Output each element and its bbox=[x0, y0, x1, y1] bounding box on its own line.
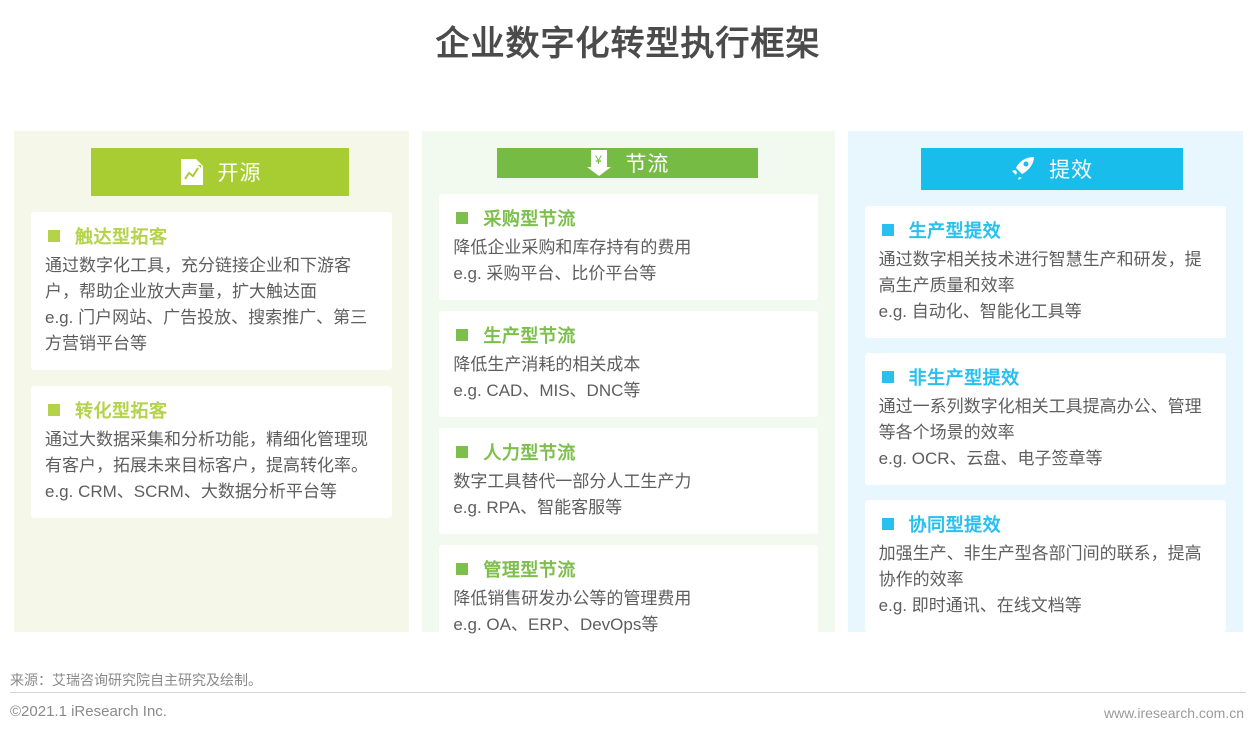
card-list: 触达型拓客 通过数字化工具，充分链接企业和下游客户，帮助企业放大声量，扩大触达面… bbox=[31, 212, 392, 518]
card-title: 生产型节流 bbox=[483, 322, 576, 348]
card-body: 通过一系列数字化相关工具提高办公、管理等各个场景的效率e.g. OCR、云盘、电… bbox=[879, 394, 1212, 472]
square-bullet-icon bbox=[456, 212, 468, 224]
square-bullet-icon bbox=[456, 446, 468, 458]
card-title: 采购型节流 bbox=[483, 205, 576, 231]
card-list: 采购型节流 降低企业采购和库存持有的费用e.g. 采购平台、比价平台等 生产型节… bbox=[439, 194, 817, 651]
card-body: 通过大数据采集和分析功能，精细化管理现有客户，拓展未来目标客户，提高转化率。e.… bbox=[45, 427, 378, 505]
card-body: 降低销售研发办公等的管理费用e.g. OA、ERP、DevOps等 bbox=[453, 586, 803, 638]
card-body: 数字工具替代一部分人工生产力e.g. RPA、智能客服等 bbox=[453, 469, 803, 521]
card-title: 转化型拓客 bbox=[75, 397, 168, 423]
column-header-label: 节流 bbox=[625, 148, 669, 178]
card-title-row: 采购型节流 bbox=[453, 205, 803, 231]
framework-columns: 开源 触达型拓客 通过数字化工具，充分链接企业和下游客户，帮助企业放大声量，扩大… bbox=[14, 131, 1243, 632]
footer-source: 来源：艾瑞咨询研究院自主研究及绘制。 bbox=[10, 670, 262, 690]
card-body: 通过数字相关技术进行智慧生产和研发，提高生产质量和效率e.g. 自动化、智能化工… bbox=[879, 247, 1212, 325]
card-body: 降低生产消耗的相关成本e.g. CAD、MIS、DNC等 bbox=[453, 352, 803, 404]
square-bullet-icon bbox=[456, 563, 468, 575]
footer-copyright: ©2021.1 iResearch Inc. bbox=[10, 703, 167, 720]
card-title-row: 生产型提效 bbox=[879, 217, 1212, 243]
card-body: 加强生产、非生产型各部门间的联系，提高协作的效率e.g. 即时通讯、在线文档等 bbox=[879, 541, 1212, 619]
card[interactable]: 管理型节流 降低销售研发办公等的管理费用e.g. OA、ERP、DevOps等 bbox=[439, 545, 817, 651]
footer-divider bbox=[10, 692, 1246, 693]
column-jieliu: ¥ 节流 采购型节流 降低企业采购和库存持有的费用e.g. 采购平台、比价平台等… bbox=[422, 131, 834, 632]
card-title-row: 非生产型提效 bbox=[879, 364, 1212, 390]
card-title: 触达型拓客 bbox=[75, 223, 168, 249]
page-title: 企业数字化转型执行框架 bbox=[0, 0, 1256, 72]
rocket-icon bbox=[1010, 155, 1036, 183]
card-title: 非生产型提效 bbox=[909, 364, 1020, 390]
yen-down-arrow-icon: ¥ bbox=[586, 149, 612, 177]
card-title-row: 触达型拓客 bbox=[45, 223, 378, 249]
column-header-label: 开源 bbox=[218, 157, 262, 187]
column-kaiyuan: 开源 触达型拓客 通过数字化工具，充分链接企业和下游客户，帮助企业放大声量，扩大… bbox=[14, 131, 409, 632]
square-bullet-icon bbox=[456, 329, 468, 341]
card[interactable]: 采购型节流 降低企业采购和库存持有的费用e.g. 采购平台、比价平台等 bbox=[439, 194, 817, 300]
card[interactable]: 生产型节流 降低生产消耗的相关成本e.g. CAD、MIS、DNC等 bbox=[439, 311, 817, 417]
card[interactable]: 转化型拓客 通过大数据采集和分析功能，精细化管理现有客户，拓展未来目标客户，提高… bbox=[31, 386, 392, 518]
card-title: 协同型提效 bbox=[909, 511, 1002, 537]
column-header-tixiao: 提效 bbox=[921, 148, 1183, 190]
square-bullet-icon bbox=[48, 404, 60, 416]
card-title-row: 生产型节流 bbox=[453, 322, 803, 348]
card-title: 管理型节流 bbox=[483, 556, 576, 582]
card-title-row: 人力型节流 bbox=[453, 439, 803, 465]
square-bullet-icon bbox=[48, 230, 60, 242]
card-title-row: 转化型拓客 bbox=[45, 397, 378, 423]
card-list: 生产型提效 通过数字相关技术进行智慧生产和研发，提高生产质量和效率e.g. 自动… bbox=[865, 206, 1226, 632]
svg-text:¥: ¥ bbox=[595, 153, 604, 167]
square-bullet-icon bbox=[882, 224, 894, 236]
column-header-jieliu: ¥ 节流 bbox=[497, 148, 758, 178]
column-header-label: 提效 bbox=[1049, 154, 1093, 184]
card-title-row: 协同型提效 bbox=[879, 511, 1212, 537]
card-body: 通过数字化工具，充分链接企业和下游客户，帮助企业放大声量，扩大触达面e.g. 门… bbox=[45, 253, 378, 357]
card-title-row: 管理型节流 bbox=[453, 556, 803, 582]
column-header-kaiyuan: 开源 bbox=[91, 148, 349, 196]
card[interactable]: 非生产型提效 通过一系列数字化相关工具提高办公、管理等各个场景的效率e.g. O… bbox=[865, 353, 1226, 485]
card[interactable]: 人力型节流 数字工具替代一部分人工生产力e.g. RPA、智能客服等 bbox=[439, 428, 817, 534]
card[interactable]: 协同型提效 加强生产、非生产型各部门间的联系，提高协作的效率e.g. 即时通讯、… bbox=[865, 500, 1226, 632]
card-body: 降低企业采购和库存持有的费用e.g. 采购平台、比价平台等 bbox=[453, 235, 803, 287]
card[interactable]: 生产型提效 通过数字相关技术进行智慧生产和研发，提高生产质量和效率e.g. 自动… bbox=[865, 206, 1226, 338]
footer-url[interactable]: www.iresearch.com.cn bbox=[1104, 705, 1244, 721]
card-title: 生产型提效 bbox=[909, 217, 1002, 243]
card[interactable]: 触达型拓客 通过数字化工具，充分链接企业和下游客户，帮助企业放大声量，扩大触达面… bbox=[31, 212, 392, 370]
document-chart-icon bbox=[179, 158, 205, 186]
square-bullet-icon bbox=[882, 371, 894, 383]
square-bullet-icon bbox=[882, 518, 894, 530]
column-tixiao: 提效 生产型提效 通过数字相关技术进行智慧生产和研发，提高生产质量和效率e.g.… bbox=[848, 131, 1243, 632]
card-title: 人力型节流 bbox=[483, 439, 576, 465]
